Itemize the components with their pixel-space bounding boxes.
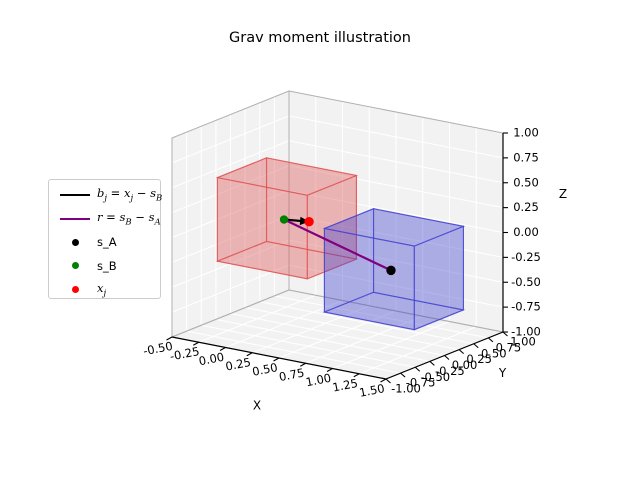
tick-label-x: -0.25	[169, 344, 201, 363]
tick-label-x: 1.50	[358, 381, 386, 400]
tick-label-z: -0.75	[511, 300, 541, 314]
tick-y	[386, 379, 391, 383]
legend-item-x_j[interactable]: xj	[49, 277, 162, 301]
tick-y	[488, 338, 493, 342]
point-s_B	[280, 215, 288, 223]
legend-item-label: s_B	[97, 259, 117, 273]
tick-y	[415, 367, 420, 371]
tick-y	[445, 356, 450, 360]
tick-label-z: -1.00	[511, 325, 541, 339]
legend: bj = xj − sBr = sB − sAs_As_Bxj	[48, 179, 161, 299]
tick-label-x: 0.75	[278, 365, 306, 384]
tick-label-z: -0.25	[511, 250, 541, 264]
legend-item-label: r = sB − sA	[97, 210, 161, 227]
tick-label-x: 1.00	[304, 371, 332, 390]
tick-y	[401, 373, 406, 377]
tick-y	[430, 361, 435, 365]
legend-dot-sample	[57, 254, 93, 278]
legend-item-b_jx_js_B[interactable]: bj = xj − sB	[49, 183, 162, 207]
tick-label-z: 1.00	[513, 126, 539, 140]
legend-item-label: bj = xj − sB	[97, 186, 162, 203]
axis-label-z: Z	[559, 187, 567, 201]
legend-item-s_B[interactable]: s_B	[49, 254, 162, 278]
tick-label-z: 0.50	[513, 175, 539, 189]
legend-dot-swatch	[72, 239, 79, 246]
tick-label-x: 0.25	[224, 355, 252, 374]
legend-dot-swatch	[72, 286, 79, 293]
point-x_j	[304, 217, 313, 226]
legend-item-label: s_A	[97, 235, 117, 249]
legend-item-s_A[interactable]: s_A	[49, 230, 162, 254]
tick-label-x: 1.25	[331, 376, 359, 395]
legend-item-label: xj	[97, 281, 106, 298]
legend-dot-swatch	[72, 262, 79, 269]
tick-label-x: 0.50	[251, 360, 279, 379]
tick-y	[459, 350, 464, 354]
tick-label-z: 0.75	[513, 150, 539, 164]
legend-dot-sample	[57, 230, 93, 254]
tick-label-z: 0.00	[513, 225, 539, 239]
legend-line-sample	[57, 207, 93, 231]
legend-line-sample	[57, 183, 93, 207]
tick-label-x: 0.00	[197, 350, 225, 369]
point-s_A	[386, 266, 395, 275]
legend-line-swatch	[60, 218, 90, 220]
legend-item-rs_Bs_A[interactable]: r = sB − sA	[49, 207, 162, 231]
figure-canvas: Grav moment illustration -0.50-0.250.000…	[0, 0, 640, 480]
tick-label-z: -0.50	[511, 275, 541, 289]
tick-label-z: 0.25	[513, 200, 539, 214]
legend-line-swatch	[60, 194, 90, 196]
axis-label-x: X	[253, 399, 261, 413]
axis-label-y: Y	[498, 366, 507, 380]
tick-y	[474, 344, 479, 348]
legend-dot-sample	[57, 277, 93, 301]
tick-y	[503, 332, 508, 336]
